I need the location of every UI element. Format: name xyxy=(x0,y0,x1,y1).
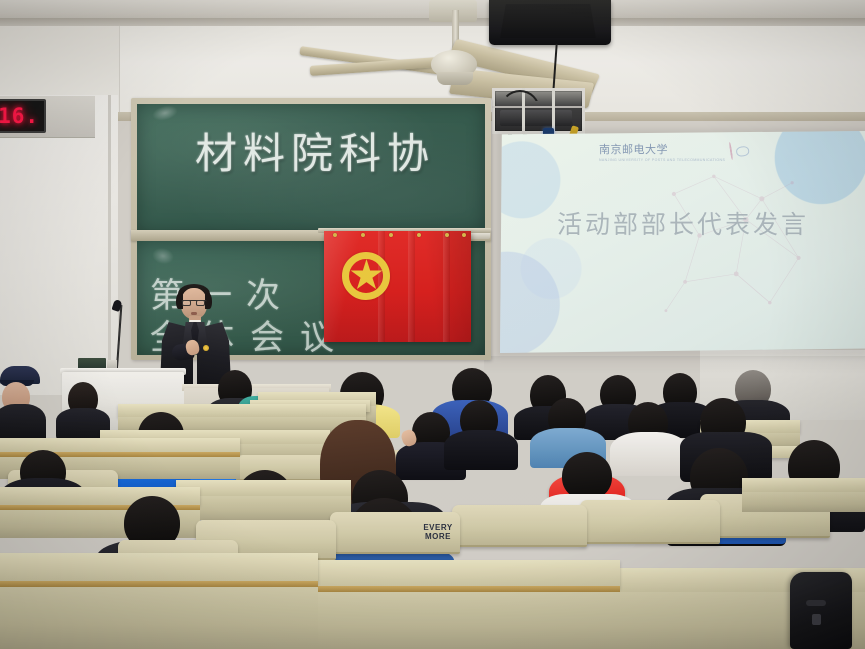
projector-body xyxy=(500,110,572,126)
left-wall-edge xyxy=(108,95,111,395)
left-wall xyxy=(0,95,118,395)
flag-grommet xyxy=(361,233,365,237)
white-jacket xyxy=(610,432,688,476)
seat-back xyxy=(452,505,587,547)
university-name-en: NANJING UNIVERSITY OF POSTS AND TELECOMM… xyxy=(599,158,725,162)
flag-fold xyxy=(443,231,450,342)
backpack-buckle xyxy=(812,614,821,625)
flag-fold xyxy=(408,231,415,342)
projection-screen xyxy=(500,131,865,353)
flag-grommet xyxy=(333,233,337,237)
backpack-strap xyxy=(806,600,826,606)
desk-surface xyxy=(176,480,351,496)
speaker-mouth xyxy=(191,312,197,315)
desk-surface xyxy=(300,560,620,588)
desk-surface xyxy=(742,478,865,492)
blackboard-headline: 材料院科协 xyxy=(195,120,485,181)
jacket-graphic-text: EVERY MORE xyxy=(418,523,458,541)
university-logo: 南京邮电大学 NANJING UNIVERSITY OF POSTS AND T… xyxy=(594,138,719,164)
flag-grommet xyxy=(445,233,449,237)
eyeglass-lens xyxy=(196,300,205,306)
lapel-badge-icon xyxy=(203,345,209,351)
desk-front-panel xyxy=(176,496,351,520)
audience-torso xyxy=(444,430,518,470)
university-name-cn: 南京邮电大学 xyxy=(599,141,725,157)
flag-grommet xyxy=(389,233,393,237)
speaker-grille xyxy=(500,4,596,38)
led-clock-digits: 16. xyxy=(0,104,39,128)
black-backpack xyxy=(790,572,852,649)
audience-head xyxy=(562,452,612,500)
lecture-hall-photo: 16. 材料院科协 第一次 全体会议 xyxy=(0,0,865,649)
eyeglass-lens xyxy=(182,300,191,306)
desk-front-panel xyxy=(0,587,318,649)
flag-grommet xyxy=(462,233,466,237)
network-pattern-icon xyxy=(624,162,836,322)
desk-surface xyxy=(0,553,318,583)
wall-base-shadow xyxy=(484,356,865,374)
slide-title: 活动部部长代表发言 xyxy=(548,205,818,241)
desk-front-panel xyxy=(742,492,865,512)
desk-front-panel xyxy=(300,592,620,649)
wall-led-clock: 16. xyxy=(0,99,46,133)
fan-bottom-cap xyxy=(437,72,473,85)
flag-grommet xyxy=(417,233,421,237)
seat-back xyxy=(580,500,720,544)
